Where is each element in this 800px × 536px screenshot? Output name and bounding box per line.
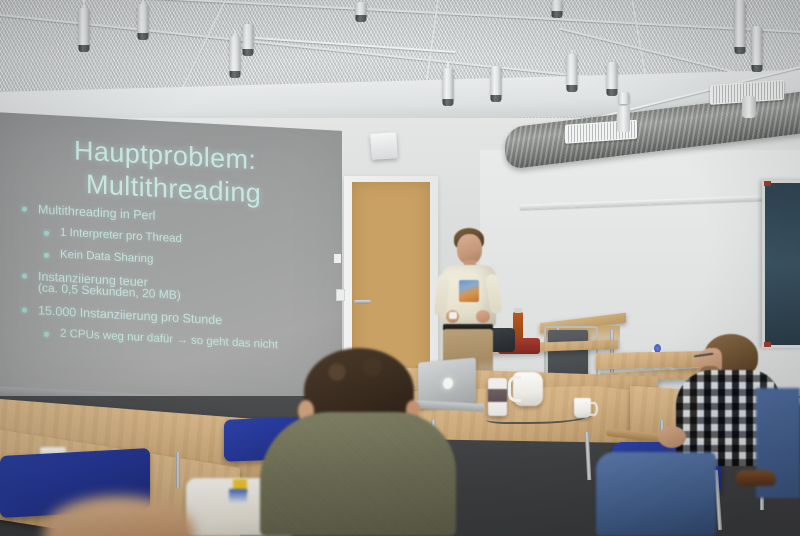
duct-hanger xyxy=(617,106,630,132)
light-switch[interactable] xyxy=(336,289,345,301)
bag-label-blue xyxy=(229,489,247,503)
attendee-jeans-right xyxy=(596,452,716,536)
perl-logo-print xyxy=(459,280,479,302)
wall-speaker xyxy=(370,132,398,160)
mug-on-table xyxy=(574,398,591,418)
room-photo: Hauptproblem: Multithreading Multithread… xyxy=(0,0,800,536)
bullet-text: Multithreading in Perl xyxy=(38,202,155,222)
mug-handle xyxy=(590,402,598,416)
bottle-cap xyxy=(514,308,522,313)
bullet-dot xyxy=(44,231,49,236)
kettle-handle xyxy=(508,376,521,402)
bullet-dot xyxy=(22,274,27,279)
wall-whiteboard xyxy=(762,180,800,348)
presenter-hand-right xyxy=(476,310,490,323)
attendee-hand xyxy=(658,426,686,448)
bullet-dot xyxy=(44,253,49,258)
presenter-clicker xyxy=(449,312,457,319)
bullet-text: 15.000 Instanziierung pro Stunde xyxy=(38,303,222,327)
duct-hanger xyxy=(742,96,756,118)
bullet-text: Kein Data Sharing xyxy=(60,249,153,266)
attendee-olive-sweater xyxy=(254,348,454,536)
slide-bullets: Multithreading in Perl 1 Interpreter pro… xyxy=(16,201,336,364)
wall-switch[interactable] xyxy=(334,254,341,263)
attendee-sweater xyxy=(260,412,456,536)
bullet-text: 1 Interpreter pro Thread xyxy=(60,227,182,246)
slide-title: Hauptproblem: Multithreading xyxy=(74,134,334,214)
bullet-dot xyxy=(22,308,27,313)
door-handle[interactable] xyxy=(354,300,371,304)
table-leg xyxy=(176,452,180,488)
bullet-dot xyxy=(22,207,27,212)
bullet-dot xyxy=(44,332,49,337)
bullet-text: 2 CPUs weg nur dafür → so geht das nicht xyxy=(60,328,278,352)
attendee-shoe xyxy=(736,470,776,486)
